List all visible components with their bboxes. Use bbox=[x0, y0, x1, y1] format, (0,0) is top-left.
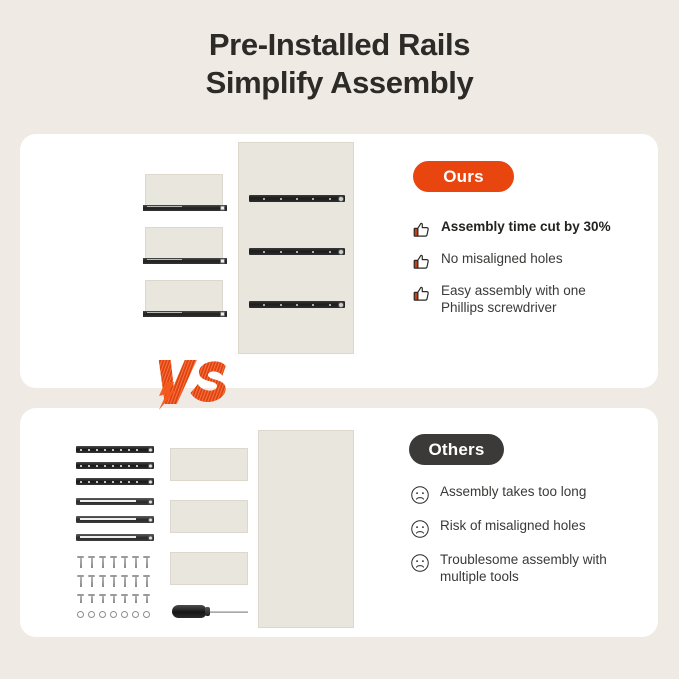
screw-icon bbox=[121, 575, 128, 587]
mounted-rail bbox=[249, 301, 345, 308]
loose-rail bbox=[76, 498, 154, 505]
screw-icon bbox=[88, 575, 95, 587]
drawer-box bbox=[170, 552, 248, 585]
others-badge: Others bbox=[409, 434, 504, 465]
loose-rail bbox=[76, 534, 154, 541]
screw-icon bbox=[121, 556, 128, 568]
cabinet-panel bbox=[238, 142, 354, 354]
page-title: Pre-Installed Rails Simplify Assembly bbox=[0, 26, 679, 102]
screw-icon bbox=[143, 575, 150, 587]
page-title-line-1: Pre-Installed Rails bbox=[0, 26, 679, 64]
ours-panel: Ours Assembly time cut by 30% No misalig… bbox=[20, 134, 658, 388]
screw-icon bbox=[132, 594, 139, 603]
list-item-label: Easy assembly with one Phillips screwdri… bbox=[441, 282, 620, 316]
list-item-label: Assembly takes too long bbox=[440, 483, 586, 500]
screw-icon bbox=[132, 575, 139, 587]
washer-icon bbox=[99, 611, 106, 618]
thumbs-up-icon bbox=[410, 251, 432, 273]
screw-icon bbox=[143, 594, 150, 603]
list-item-label: Assembly time cut by 30% bbox=[441, 218, 611, 235]
screw-icon bbox=[132, 556, 139, 568]
list-item: Easy assembly with one Phillips screwdri… bbox=[410, 282, 620, 316]
list-item: Assembly time cut by 30% bbox=[410, 218, 620, 241]
drawer-box bbox=[170, 500, 248, 533]
preinstalled-rail bbox=[143, 205, 227, 211]
screw-icon bbox=[110, 594, 117, 603]
loose-rail bbox=[76, 446, 154, 453]
washer-icon bbox=[110, 611, 117, 618]
screw-icon bbox=[88, 556, 95, 568]
mounted-rail bbox=[249, 195, 345, 202]
washer-icon bbox=[132, 611, 139, 618]
loose-rail bbox=[76, 462, 154, 469]
sad-face-icon bbox=[409, 484, 431, 506]
screw-icon bbox=[99, 594, 106, 603]
list-item: Risk of misaligned holes bbox=[409, 517, 619, 540]
washer-icon bbox=[121, 611, 128, 618]
page-title-line-2: Simplify Assembly bbox=[0, 64, 679, 102]
screw-icon bbox=[77, 556, 84, 568]
list-item-label: Risk of misaligned holes bbox=[440, 517, 586, 534]
screw-icon bbox=[77, 575, 84, 587]
vs-graphic bbox=[146, 352, 242, 412]
washer-icon bbox=[88, 611, 95, 618]
mounted-rail bbox=[249, 248, 345, 255]
drawer-box bbox=[145, 280, 223, 315]
loose-rail bbox=[76, 516, 154, 523]
washer-icon bbox=[77, 611, 84, 618]
drawer-box bbox=[145, 174, 223, 209]
list-item: Assembly takes too long bbox=[409, 483, 619, 506]
others-drawback-list: Assembly takes too long Risk of misalign… bbox=[409, 483, 619, 596]
list-item: No misaligned holes bbox=[410, 250, 620, 273]
list-item-label: Troublesome assembly with multiple tools bbox=[440, 551, 619, 585]
drawer-box bbox=[170, 448, 248, 481]
cabinet-panel bbox=[258, 430, 354, 628]
screw-icon bbox=[121, 594, 128, 603]
drawer-box bbox=[145, 227, 223, 262]
thumbs-up-icon bbox=[410, 219, 432, 241]
screw-icon bbox=[110, 575, 117, 587]
screw-icon bbox=[110, 556, 117, 568]
sad-face-icon bbox=[409, 552, 431, 574]
loose-rail bbox=[76, 478, 154, 485]
list-item-label: No misaligned holes bbox=[441, 250, 563, 267]
list-item: Troublesome assembly with multiple tools bbox=[409, 551, 619, 585]
screw-icon bbox=[99, 575, 106, 587]
thumbs-up-icon bbox=[410, 283, 432, 305]
others-panel: Others Assembly takes too long bbox=[20, 408, 658, 637]
screw-icon bbox=[143, 556, 150, 568]
screw-icon bbox=[88, 594, 95, 603]
ours-badge: Ours bbox=[413, 161, 514, 192]
screw-icon bbox=[99, 556, 106, 568]
preinstalled-rail bbox=[143, 258, 227, 264]
preinstalled-rail bbox=[143, 311, 227, 317]
ours-benefit-list: Assembly time cut by 30% No misaligned h… bbox=[410, 218, 620, 325]
screw-icon bbox=[77, 594, 84, 603]
washer-icon bbox=[143, 611, 150, 618]
sad-face-icon bbox=[409, 518, 431, 540]
